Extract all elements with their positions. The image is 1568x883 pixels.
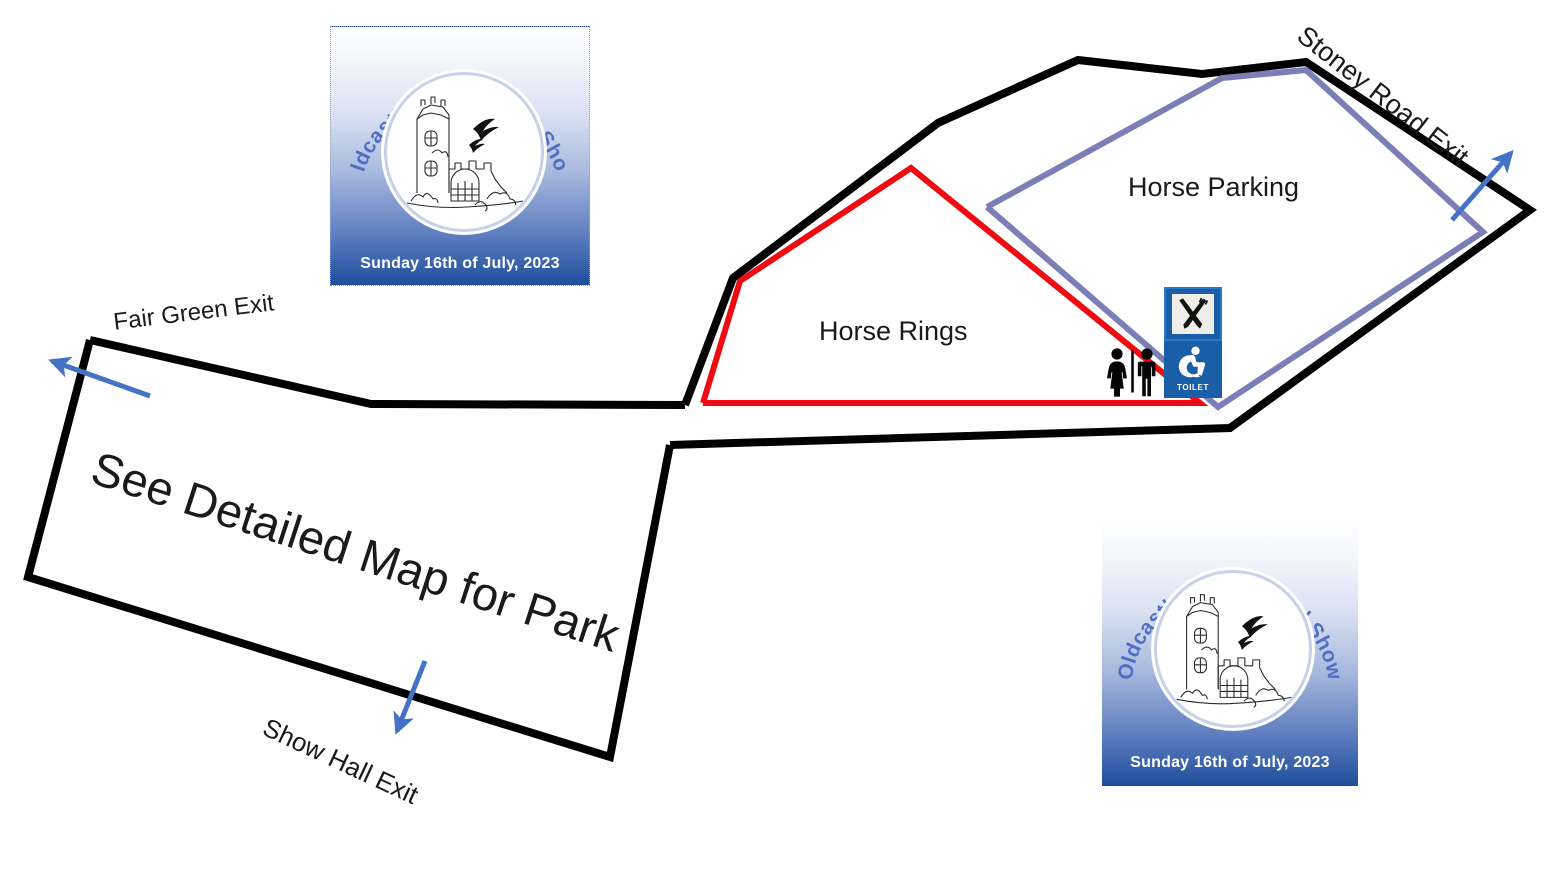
- area-label-horse-parking: Horse Parking: [1128, 172, 1299, 203]
- restaurant-sign[interactable]: [1164, 287, 1222, 341]
- oldcastle-ruins-with-birds-icon: [1157, 573, 1309, 725]
- logo-caption-top: Sunday 16th of July, 2023: [331, 255, 589, 285]
- site-map-canvas: Horse Parking Horse Rings Stoney Road Ex…: [0, 0, 1568, 883]
- logo-emblem-area-bottom: Oldcastle Agricultural Show: [1102, 522, 1358, 754]
- restaurant-sign-plate: [1172, 294, 1214, 334]
- logo-emblem-area-top: Oldcastle Agricultural Show: [331, 27, 589, 255]
- show-logo-bottom: Oldcastle Agricultural Show: [1102, 522, 1358, 786]
- logo-caption-bottom: Sunday 16th of July, 2023: [1102, 754, 1358, 786]
- cutlery-icon: [1175, 297, 1211, 331]
- male-female-figures-icon: [1104, 347, 1160, 397]
- logo-emblem-circle-bottom: [1154, 570, 1312, 728]
- show-logo-top: Oldcastle Agricultural Show: [330, 26, 590, 286]
- west-park-boundary: [90, 340, 685, 405]
- wheelchair-icon: [1173, 344, 1213, 384]
- accessible-toilet-sign[interactable]: TOILET: [1164, 341, 1222, 398]
- toilet-sign-label: TOILET: [1177, 383, 1209, 392]
- oldcastle-ruins-with-birds-icon: [387, 75, 541, 229]
- toilets-sign[interactable]: [1104, 347, 1160, 397]
- area-label-horse-rings: Horse Rings: [819, 316, 968, 347]
- logo-emblem-circle-top: [384, 72, 544, 232]
- fair-green-exit-arrow: [52, 361, 150, 396]
